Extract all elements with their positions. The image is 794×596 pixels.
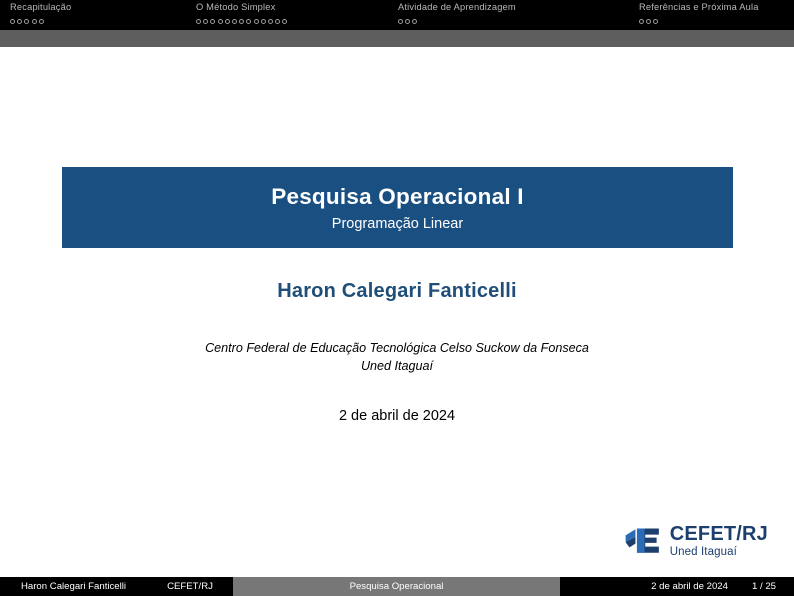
institute-line-2: Uned Itaguaí [0,358,794,376]
slide-footer: Haron Calegari Fanticelli CEFET/RJ Pesqu… [0,577,794,596]
nav-section-label: Recapitulação [10,2,71,14]
presentation-subtitle: Programação Linear [332,216,463,232]
nav-dot[interactable] [225,19,230,24]
nav-dots-metodo-simplex[interactable] [196,16,289,26]
nav-section-atividade-aprendizagem[interactable]: Atividade de Aprendizagem [398,2,516,26]
presentation-title: Pesquisa Operacional I [271,184,524,210]
nav-dot[interactable] [232,19,237,24]
nav-section-metodo-simplex[interactable]: O Método Simplex [196,2,289,26]
nav-dot[interactable] [218,19,223,24]
nav-dot[interactable] [261,19,266,24]
logo-wordmark: CEFET/RJ Uned Itaguaí [670,524,768,559]
cefet-logo: CEFET/RJ Uned Itaguaí [624,524,768,559]
nav-dot[interactable] [398,19,403,24]
nav-dot[interactable] [412,19,417,24]
nav-section-label: Atividade de Aprendizagem [398,2,516,14]
nav-dots-referencias-proxima-aula[interactable] [639,16,759,26]
institute-line-1: Centro Federal de Educação Tecnológica C… [0,340,794,358]
nav-dot[interactable] [196,19,201,24]
nav-dot[interactable] [405,19,410,24]
footer-title: Pesquisa Operacional [233,577,560,596]
nav-dot[interactable] [246,19,251,24]
navigation-header: Recapitulação O Método Simplex Atividade… [0,0,794,30]
nav-dot[interactable] [275,19,280,24]
nav-section-referencias-proxima-aula[interactable]: Referências e Próxima Aula [639,2,759,26]
footer-author: Haron Calegari Fanticelli [0,577,147,596]
nav-dot[interactable] [639,19,644,24]
logo-title: CEFET/RJ [670,524,768,544]
footer-page-number: 1 / 25 [752,581,776,592]
header-accent-bar [0,30,794,47]
cefet-monogram-icon [624,524,662,558]
nav-dot[interactable] [203,19,208,24]
institute-affiliation: Centro Federal de Educação Tecnológica C… [0,340,794,376]
nav-dot[interactable] [646,19,651,24]
nav-dots-recapitulacao[interactable] [10,16,71,26]
footer-date: 2 de abril de 2024 [651,581,728,592]
nav-dot[interactable] [282,19,287,24]
nav-dot[interactable] [32,19,37,24]
nav-dot[interactable] [17,19,22,24]
author-name: Haron Calegari Fanticelli [0,280,794,303]
nav-dot[interactable] [239,19,244,24]
footer-right-group: 2 de abril de 2024 1 / 25 [560,577,794,596]
nav-dot[interactable] [653,19,658,24]
nav-dot[interactable] [24,19,29,24]
title-block: Pesquisa Operacional I Programação Linea… [62,167,733,248]
nav-section-recapitulacao[interactable]: Recapitulação [10,2,71,26]
nav-dot[interactable] [10,19,15,24]
nav-dot[interactable] [39,19,44,24]
presentation-date: 2 de abril de 2024 [0,408,794,424]
nav-section-label: Referências e Próxima Aula [639,2,759,14]
footer-institute: CEFET/RJ [147,577,233,596]
nav-dot[interactable] [210,19,215,24]
nav-dot[interactable] [268,19,273,24]
nav-section-label: O Método Simplex [196,2,289,14]
nav-dots-atividade-aprendizagem[interactable] [398,16,516,26]
logo-subtitle: Uned Itaguaí [670,547,768,559]
nav-dot[interactable] [254,19,259,24]
